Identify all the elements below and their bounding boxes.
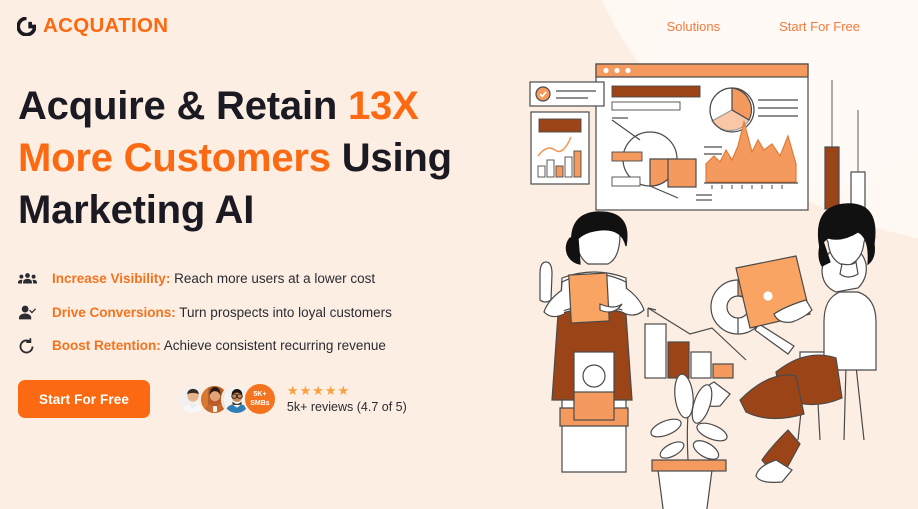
page-title: Acquire & Retain 13X More Customers Usin… bbox=[18, 80, 488, 236]
donut-chart bbox=[710, 88, 754, 132]
refresh-retention-icon bbox=[18, 337, 38, 355]
benefit-text: Achieve consistent recurring revenue bbox=[161, 338, 386, 353]
hero-content: Acquire & Retain 13X More Customers Usin… bbox=[0, 52, 500, 509]
nav-link-solutions[interactable]: Solutions bbox=[667, 19, 720, 34]
list-item-label: Drive Conversions: Turn prospects into l… bbox=[52, 304, 392, 322]
browser-window-dashboard bbox=[596, 64, 808, 210]
badge-label: SMBs bbox=[250, 399, 269, 408]
marketing-analytics-illustration bbox=[500, 52, 918, 509]
hero-illustration bbox=[500, 52, 918, 509]
user-check-icon bbox=[18, 304, 38, 322]
smb-count-badge: 5K+ SMBs bbox=[243, 382, 277, 416]
star-rating-icon: ★★★★★ bbox=[287, 384, 407, 398]
headline-multiplier: 13X bbox=[348, 84, 419, 128]
headline-line1-text: Acquire & Retain bbox=[18, 84, 348, 128]
cta-row: Start For Free bbox=[18, 380, 500, 418]
list-item-label: Boost Retention: Achieve consistent recu… bbox=[52, 337, 386, 355]
notification-card bbox=[530, 82, 604, 106]
list-item-label: Increase Visibility: Reach more users at… bbox=[52, 270, 375, 288]
headline-line2-rest: Using bbox=[331, 136, 452, 180]
circle-notch-icon bbox=[17, 17, 36, 36]
brand-name: ACQUATION bbox=[43, 14, 168, 38]
main-nav: Solutions Start For Free bbox=[667, 19, 860, 34]
descending-bar-chart bbox=[645, 324, 733, 378]
list-item: Boost Retention: Achieve consistent recu… bbox=[18, 336, 500, 356]
list-item: Increase Visibility: Reach more users at… bbox=[18, 269, 500, 289]
review-summary: ★★★★★ 5k+ reviews (4.7 of 5) bbox=[287, 384, 407, 414]
brand-logo[interactable]: ACQUATION bbox=[17, 14, 168, 38]
start-for-free-button[interactable]: Start For Free bbox=[18, 380, 150, 418]
benefit-title: Drive Conversions: bbox=[52, 305, 176, 320]
list-item: Drive Conversions: Turn prospects into l… bbox=[18, 303, 500, 323]
social-proof: 5K+ SMBs ★★★★★ 5k+ reviews (4.7 of 5) bbox=[177, 382, 407, 416]
headline-line3: Marketing AI bbox=[18, 188, 254, 232]
benefit-text: Turn prospects into loyal customers bbox=[176, 305, 392, 320]
site-header: ACQUATION Solutions Start For Free bbox=[0, 0, 918, 52]
bar-chart-card bbox=[531, 112, 589, 184]
person-standing-pointing bbox=[540, 212, 644, 472]
avatar-group: 5K+ SMBs bbox=[177, 382, 277, 416]
badge-count: 5K+ bbox=[253, 390, 266, 399]
users-group-icon bbox=[18, 270, 38, 288]
benefit-title: Boost Retention: bbox=[52, 338, 161, 353]
review-count-text: 5k+ reviews (4.7 of 5) bbox=[287, 400, 407, 414]
hero-section: Acquire & Retain 13X More Customers Usin… bbox=[0, 52, 918, 509]
headline-line2-accent: More Customers bbox=[18, 136, 331, 180]
benefit-text: Reach more users at a lower cost bbox=[170, 271, 375, 286]
candlestick-chart bbox=[825, 80, 865, 220]
nav-link-start-for-free[interactable]: Start For Free bbox=[779, 19, 860, 34]
benefit-list: Increase Visibility: Reach more users at… bbox=[18, 269, 500, 356]
benefit-title: Increase Visibility: bbox=[52, 271, 170, 286]
